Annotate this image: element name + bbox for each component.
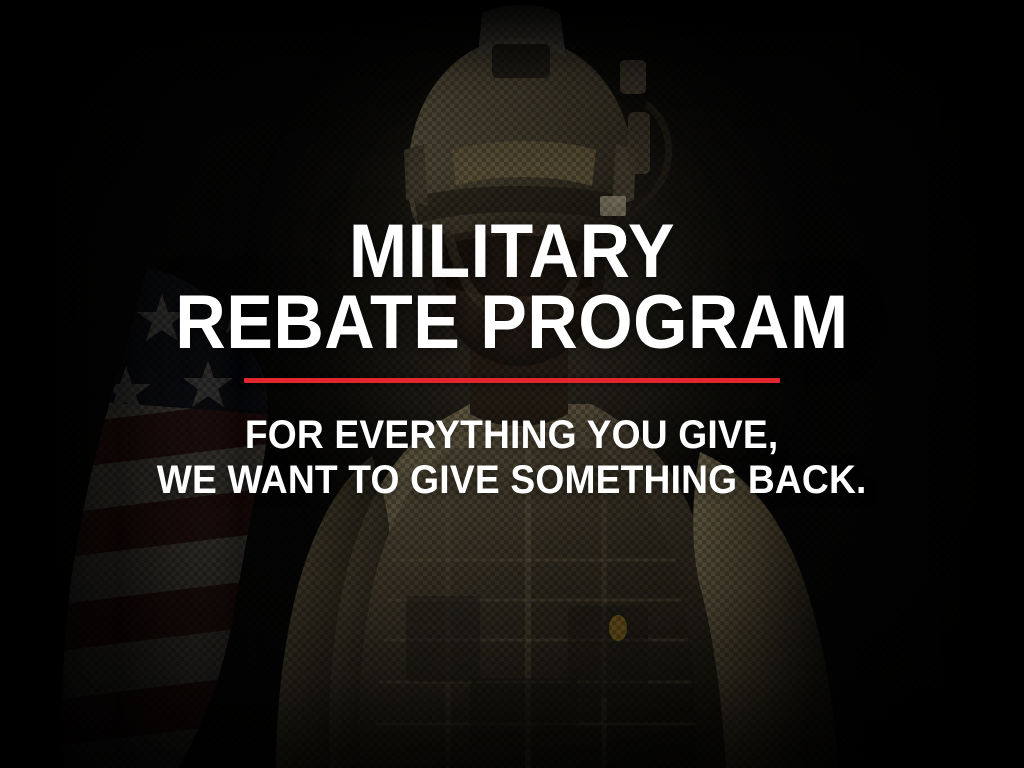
camo-texture <box>0 0 1024 768</box>
background-scene <box>0 0 1024 768</box>
military-rebate-poster: MILITARY REBATE PROGRAM FOR EVERYTHING Y… <box>0 0 1024 768</box>
